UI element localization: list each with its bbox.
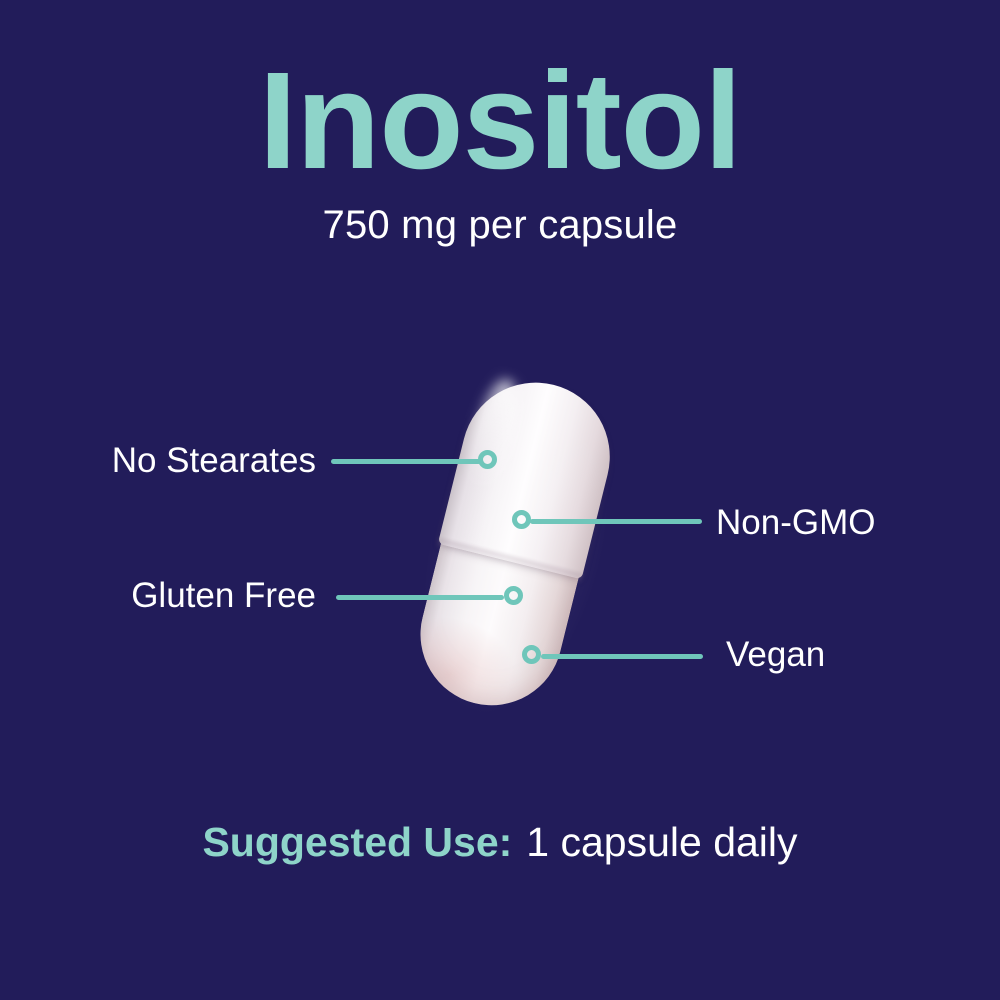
suggested-use: Suggested Use:1 capsule daily bbox=[0, 822, 1000, 863]
suggested-use-label: Suggested Use: bbox=[202, 819, 512, 865]
dosage-subtitle: 750 mg per capsule bbox=[0, 205, 1000, 245]
page-title: Inositol bbox=[0, 52, 1000, 190]
callout-line-no-stearates bbox=[331, 459, 481, 464]
suggested-use-value: 1 capsule daily bbox=[526, 819, 797, 865]
callout-label-vegan: Vegan bbox=[726, 637, 856, 672]
callout-marker-non-gmo bbox=[512, 510, 531, 529]
callout-line-gluten-free bbox=[336, 595, 504, 600]
callout-marker-no-stearates bbox=[478, 450, 497, 469]
callout-label-no-stearates: No Stearates bbox=[78, 443, 316, 478]
callout-line-vegan bbox=[541, 654, 703, 659]
product-infographic: Inositol 750 mg per capsule No Stearates… bbox=[0, 0, 1000, 1000]
capsule-image bbox=[385, 370, 645, 715]
callout-line-non-gmo bbox=[530, 519, 702, 524]
callout-marker-vegan bbox=[522, 645, 541, 664]
callout-label-non-gmo: Non-GMO bbox=[716, 505, 936, 540]
capsule-graphic bbox=[405, 368, 622, 721]
callout-label-gluten-free: Gluten Free bbox=[110, 578, 316, 613]
callout-marker-gluten-free bbox=[504, 586, 523, 605]
